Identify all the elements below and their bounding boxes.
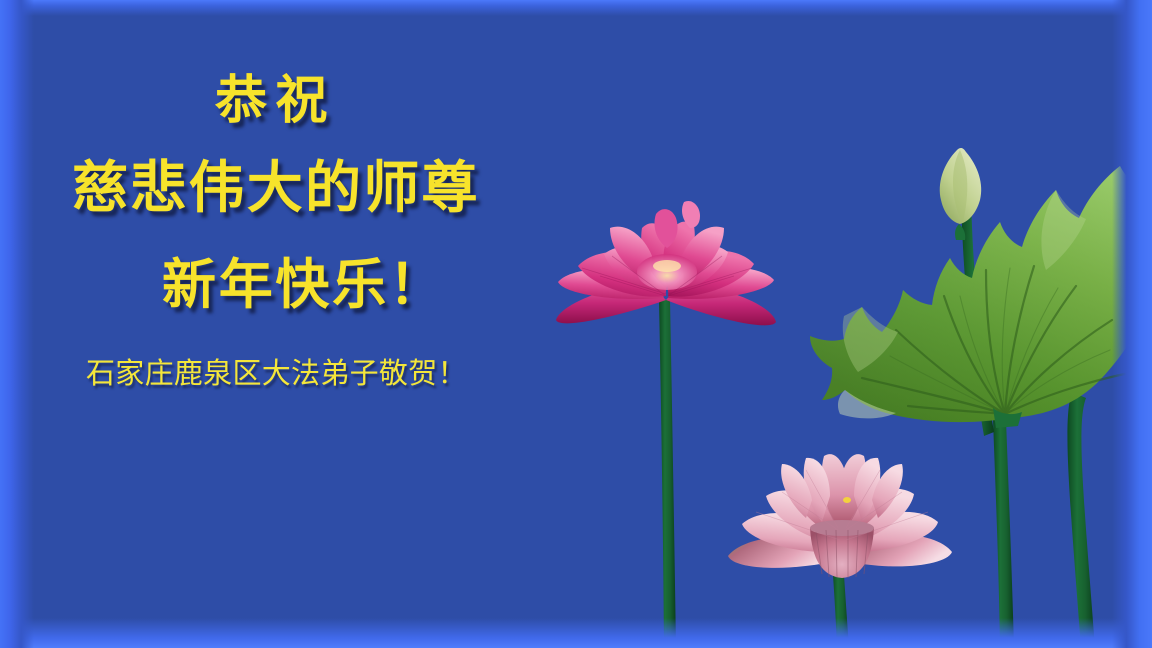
greeting-line-2: 慈悲伟大的师尊 — [72, 143, 480, 224]
lotus-leaf — [810, 166, 1152, 428]
greeting-text-block: 恭祝 慈悲伟大的师尊 新年快乐！ 石家庄鹿泉区大法弟子敬贺！ — [0, 0, 560, 420]
lotus-flower-pink — [728, 454, 952, 578]
greeting-line-1: 恭祝 — [215, 58, 336, 133]
greeting-signature: 石家庄鹿泉区大法弟子敬贺！ — [86, 350, 467, 392]
new-year-greeting-card: 恭祝 慈悲伟大的师尊 新年快乐！ 石家庄鹿泉区大法弟子敬贺！ — [0, 0, 1152, 648]
lotus-bud — [940, 148, 981, 240]
greeting-line-3: 新年快乐！ — [162, 240, 446, 319]
